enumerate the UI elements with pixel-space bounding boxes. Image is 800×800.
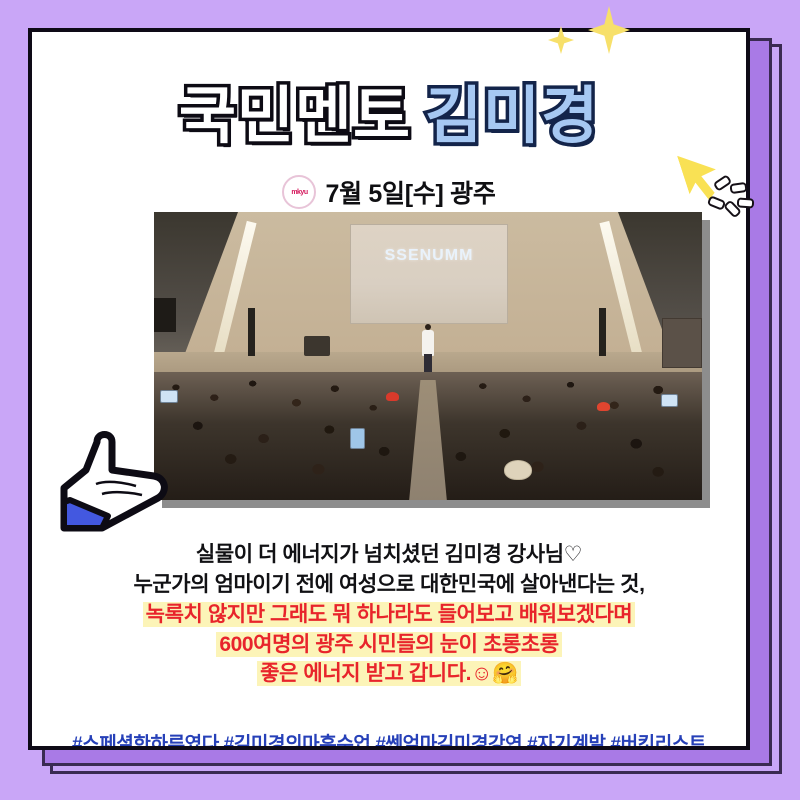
caption-line-3-wrapper: 녹록치 않지만 그래도 뭐 하나라도 들어보고 배워보겠다며 (32, 600, 746, 630)
speaker-box-left (154, 298, 176, 332)
motion-line-2 (729, 182, 747, 194)
brand-logo-icon: mkyu (282, 175, 316, 209)
caption-line-5: 좋은 에너지 받고 갑니다.☺🤗 (257, 661, 521, 686)
motion-line-5 (737, 197, 755, 208)
audience-hat-red-2 (597, 402, 610, 411)
speaker-tower-left (248, 308, 255, 356)
podium (304, 336, 330, 356)
caption-line-1: 실물이 더 에너지가 넘치셨던 김미경 강사님♡ (32, 540, 746, 570)
speaker-tower-right (599, 308, 606, 356)
speaker-body (422, 330, 434, 356)
poster-card: 국민멘토김미경 mkyu 7월 5일[수] 광주 SSENUMM (28, 28, 750, 750)
date-row: mkyu 7월 5일[수] 광주 (32, 174, 746, 210)
projection-screen: SSENUMM (350, 224, 508, 324)
audience-hat-red (386, 392, 399, 401)
caption-line-5-wrapper: 좋은 에너지 받고 갑니다.☺🤗 (32, 659, 746, 689)
caption-line-2: 누군가의 엄마이기 전에 여성으로 대한민국에 살아낸다는 것, (32, 570, 746, 600)
title-part-one: 국민멘토 (179, 86, 411, 148)
caption-block: 실물이 더 에너지가 넘치셨던 김미경 강사님♡ 누군가의 엄마이기 전에 여성… (32, 540, 746, 689)
audience-phone-1 (160, 390, 178, 403)
event-date-location: 7월 5일[수] 광주 (325, 174, 495, 210)
speaker-box-right (662, 318, 702, 368)
caption-line-4-wrapper: 600여명의 광주 시민들의 눈이 초롱초롱 (32, 630, 746, 660)
projection-screen-logo: SSENUMM (385, 247, 474, 265)
brand-logo-text: mkyu (291, 189, 307, 196)
hashtag-list: #스페셜한하루였다 #김미경의마흔수업 #쎈엄마김미경강연 #자기계발 #버킷리… (32, 729, 746, 750)
pointing-hand-icon (50, 424, 178, 544)
caption-line-4: 600여명의 광주 시민들의 눈이 초롱초롱 (216, 632, 561, 657)
cursor-motion-lines-icon (712, 178, 752, 220)
caption-line-3: 녹록치 않지만 그래도 뭐 하나라도 들어보고 배워보겠다며 (143, 602, 636, 627)
poster-canvas: 국민멘토김미경 mkyu 7월 5일[수] 광주 SSENUMM (0, 0, 800, 800)
stage-speaker-person (422, 324, 434, 372)
poster-title: 국민멘토김미경 (32, 86, 746, 148)
audience-phone-3 (661, 394, 678, 407)
event-photo-frame: SSENUMM (154, 212, 702, 500)
event-photo: SSENUMM (154, 212, 702, 500)
speaker-legs (424, 354, 432, 372)
audience-hat-beige (504, 460, 532, 480)
audience-phone-2 (350, 428, 365, 449)
title-part-two: 김미경 (425, 86, 599, 148)
